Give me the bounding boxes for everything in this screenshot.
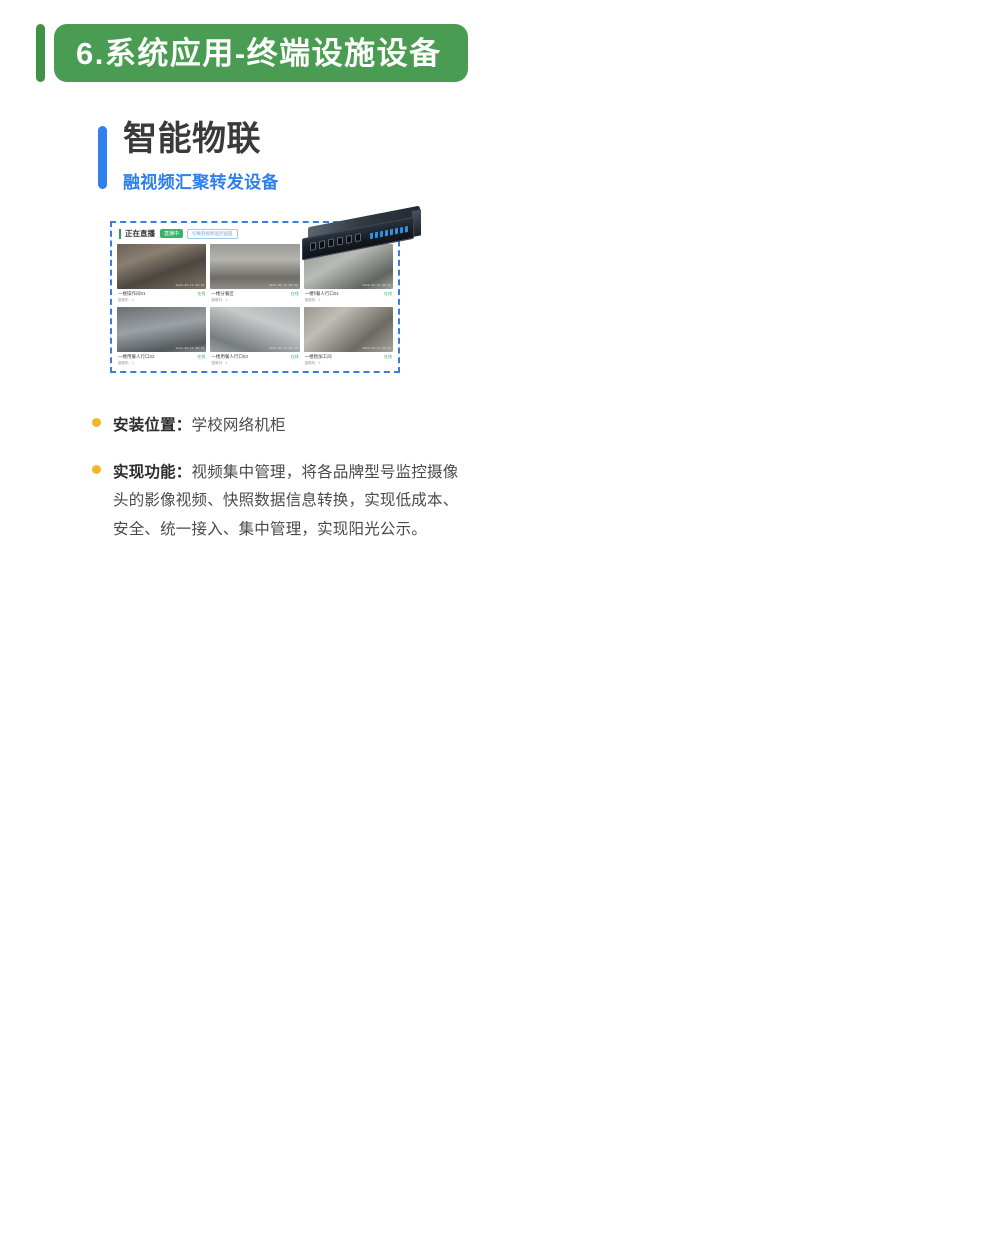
camera-cell[interactable]: 2023-05-12 09:18 一楼操作间01 在线 摄像机：1: [117, 244, 206, 303]
camera-timestamp: 2023-05-12 09:18: [176, 347, 205, 350]
camera-thumbnail[interactable]: 2023-05-12 09:18: [117, 244, 206, 289]
camera-timestamp: 2023-05-12 09:18: [362, 347, 391, 350]
camera-sub: 摄像机：1: [304, 298, 393, 303]
camera-timestamp: 2023-05-12 09:18: [269, 347, 298, 350]
page-title: 6.系统应用-终端设施设备: [76, 38, 442, 69]
section-title-box: 6.系统应用-终端设施设备: [54, 24, 468, 82]
column-video-gateway: 智能物联 融视频汇聚转发设备 正在直播 直播中 切换到视频监控画面 2023-0…: [0, 120, 500, 583]
camera-sub: 摄像机：1: [117, 298, 206, 303]
camera-sub: 摄像机：1: [210, 298, 299, 303]
bullet-text: 学校网络机柜: [192, 417, 286, 434]
camera-thumbnail[interactable]: 2023-05-12 09:18: [117, 307, 206, 352]
camera-thumbnail[interactable]: 2023-05-12 09:18: [304, 307, 393, 352]
heading-subtitle: 融视频汇聚转发设备: [123, 168, 279, 193]
camera-status: 在线: [197, 291, 205, 297]
camera-timestamp: 2023-05-12 09:18: [362, 284, 391, 287]
content-columns: 智能物联 融视频汇聚转发设备 正在直播 直播中 切换到视频监控画面 2023-0…: [0, 120, 1000, 583]
camera-cell[interactable]: 2023-05-12 09:18 一楼用餐人行口02 在线 摄像机：1: [117, 307, 206, 366]
live-accent-mark: [119, 229, 121, 239]
bullet-dot-icon: [92, 418, 101, 427]
rack-led-indicators: [370, 226, 408, 239]
camera-name: 一楼ზ餐人行口01: [305, 291, 339, 297]
bullet-label: 实现功能：: [113, 464, 192, 481]
camera-sub: 摄像机：1: [117, 361, 206, 366]
camera-thumbnail[interactable]: 2023-05-12 09:18: [210, 244, 299, 289]
camera-cell[interactable]: 2023-05-12 09:18 一楼粗加工间 在线 摄像机：1: [304, 307, 393, 366]
section-title-bar: 6.系统应用-终端设施设备: [36, 24, 468, 82]
section-title-tick: [36, 24, 45, 82]
bullets-right: 安装位置：学校网络机柜 实现功能：对食堂人员违规行为、色框混装、抽烟、玩手机、陌…: [500, 412, 1000, 1238]
camera-sub: 摄像机：1: [304, 361, 393, 366]
heading-title: 智能物联: [123, 120, 279, 159]
bullet-dot-icon: [92, 465, 101, 474]
heading-left: 智能物联 融视频汇聚转发设备: [98, 120, 500, 193]
camera-cell[interactable]: 2023-05-12 09:18 一楼分餐区 在线 摄像机：1: [210, 244, 299, 303]
live-secondary-badge[interactable]: 切换到视频监控画面: [187, 229, 238, 239]
camera-status: 在线: [384, 291, 392, 297]
camera-cell[interactable]: 2023-05-12 09:18 一楼用餐人行口03 在线 摄像机：1: [210, 307, 299, 366]
camera-name: 一楼粗加工间: [305, 354, 332, 360]
live-badge[interactable]: 直播中: [160, 229, 183, 238]
camera-status: 在线: [291, 354, 299, 360]
camera-status: 在线: [384, 354, 392, 360]
camera-name: 一楼用餐人行口02: [118, 354, 155, 360]
bullet-label: 安装位置：: [113, 417, 192, 434]
camera-name: 一楼分餐区: [211, 291, 234, 297]
bullet-install-location: 安装位置：学校网络机柜: [92, 412, 472, 441]
camera-timestamp: 2023-05-12 09:18: [176, 284, 205, 287]
camera-thumbnail[interactable]: 2023-05-12 09:18: [210, 307, 299, 352]
column-ai-analysis: 智能物联 AI违规分析深度算法设备 2023-05-12 11:07:22: [500, 120, 1000, 583]
bullet-function: 实现功能：视频集中管理，将各品牌型号监控摄像头的影像视频、快照数据信息转换，实现…: [92, 459, 472, 545]
camera-status: 在线: [197, 354, 205, 360]
camera-name: 一楼用餐人行口03: [211, 354, 248, 360]
camera-sub: 摄像机：1: [210, 361, 299, 366]
camera-timestamp: 2023-05-12 09:18: [269, 284, 298, 287]
live-label: 正在直播: [125, 228, 155, 239]
camera-status: 在线: [291, 291, 299, 297]
rack-ports: [310, 233, 361, 251]
bullets-left: 安装位置：学校网络机柜 实现功能：视频集中管理，将各品牌型号监控摄像头的影像视频…: [0, 412, 500, 563]
heading-accent-bar: [98, 126, 107, 189]
camera-name: 一楼操作间01: [118, 291, 146, 297]
